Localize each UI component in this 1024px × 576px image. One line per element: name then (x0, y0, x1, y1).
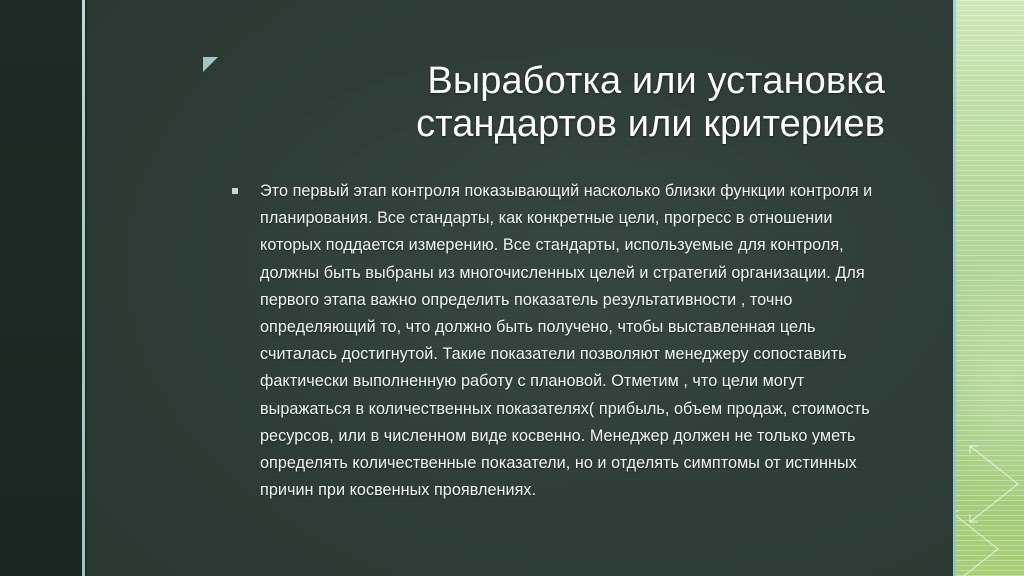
right-panel-glow (956, 250, 1024, 510)
page-title: Выработка или установка стандартов или к… (232, 60, 885, 146)
right-accent-panel (956, 0, 1024, 576)
presentation-slide: Выработка или установка стандартов или к… (0, 0, 1024, 576)
chevron-right-icon-upper (962, 440, 1024, 560)
left-accent-band (0, 0, 82, 576)
slide-body-block: Это первый этап контроля показывающий на… (232, 178, 884, 504)
slide-title-block: Выработка или установка стандартов или к… (232, 60, 885, 146)
left-divider-shadow (85, 0, 87, 576)
title-triangle-icon (203, 57, 218, 72)
bullet-item-text: Это первый этап контроля показывающий на… (260, 178, 884, 504)
right-panel-stripes (956, 0, 1024, 576)
chevron-right-icon-lower (956, 505, 1010, 576)
bullet-list-item: Это первый этап контроля показывающий на… (232, 178, 884, 504)
square-bullet-icon (232, 188, 238, 194)
